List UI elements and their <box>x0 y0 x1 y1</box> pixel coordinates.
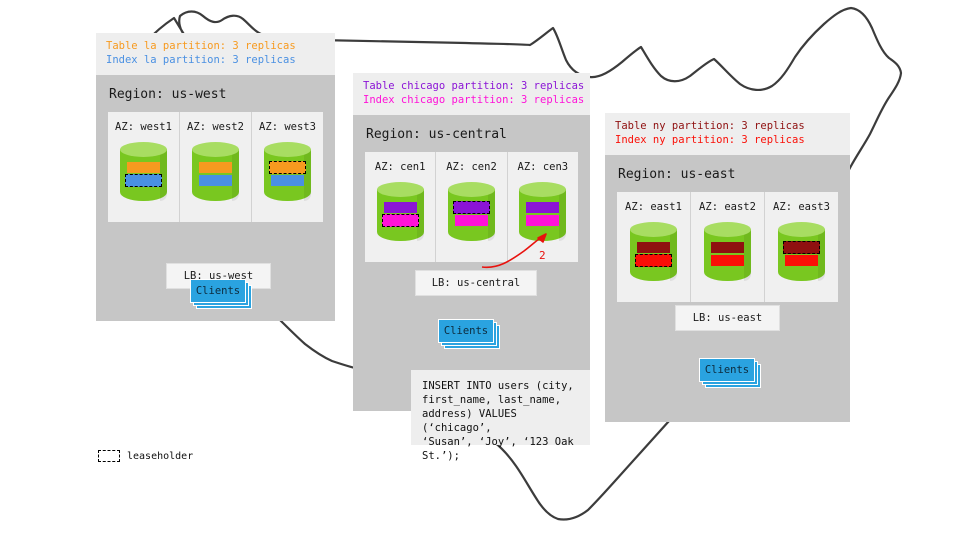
cylinder-shade <box>304 149 311 201</box>
az-label: AZ: east2 <box>699 201 756 213</box>
region-panel-us-west: Table la partition: 3 replicas Index la … <box>96 33 335 321</box>
partition-header-us-east: Table ny partition: 3 replicas Index ny … <box>605 113 850 155</box>
region-title: Region: us-west <box>96 75 335 112</box>
cylinder-shade <box>744 229 751 281</box>
index-partition-line: Index chicago partition: 3 replicas <box>363 94 580 108</box>
cylinder-top <box>120 142 167 157</box>
annotation-step-number: 2 <box>539 249 546 262</box>
az-label: AZ: east1 <box>625 201 682 213</box>
az-label: AZ: cen2 <box>446 161 497 173</box>
az-strip-us-east: AZ: east1 AZ: east2 <box>617 192 838 302</box>
replica-band-index-leaseholder <box>382 214 419 227</box>
az-cell-cen1[interactable]: AZ: cen1 <box>365 152 435 262</box>
az-cell-east1[interactable]: AZ: east1 <box>617 192 690 302</box>
database-cylinder[interactable] <box>192 142 239 208</box>
clients-label: Clients <box>438 319 494 343</box>
cylinder-top <box>778 222 825 237</box>
replica-band-table-leaseholder <box>453 201 490 214</box>
database-cylinder[interactable] <box>377 182 424 248</box>
annotation-arrow-2 <box>480 225 580 275</box>
replica-band-table <box>127 162 160 173</box>
clients-label: Clients <box>190 279 246 303</box>
region-title: Region: us-east <box>605 155 850 192</box>
az-label: AZ: west1 <box>115 121 172 133</box>
az-cell-east3[interactable]: AZ: east3 <box>764 192 838 302</box>
clients-button-us-east[interactable]: Clients <box>699 358 757 384</box>
replica-band-index-leaseholder <box>635 254 672 267</box>
az-label: AZ: cen3 <box>518 161 569 173</box>
replica-band-index <box>785 255 818 266</box>
replica-band-index <box>271 175 304 186</box>
cylinder-top <box>630 222 677 237</box>
az-label: AZ: cen1 <box>375 161 426 173</box>
cylinder-top <box>448 182 495 197</box>
dashed-rect-icon <box>98 450 120 462</box>
az-label: AZ: east3 <box>773 201 830 213</box>
table-partition-line: Table la partition: 3 replicas <box>106 40 325 54</box>
index-partition-line: Index ny partition: 3 replicas <box>615 134 840 148</box>
table-partition-line: Table ny partition: 3 replicas <box>615 120 840 134</box>
az-strip-us-west: AZ: west1 AZ: west2 <box>108 112 323 222</box>
cylinder-shade <box>818 229 825 281</box>
clients-button-us-west[interactable]: Clients <box>190 279 248 305</box>
database-cylinder[interactable] <box>264 142 311 208</box>
replica-band-table <box>711 242 744 253</box>
region-title: Region: us-central <box>353 115 590 152</box>
cylinder-shade <box>232 149 239 201</box>
replica-band-index-leaseholder <box>125 174 162 187</box>
region-panel-us-east: Table ny partition: 3 replicas Index ny … <box>605 113 850 422</box>
az-cell-west1[interactable]: AZ: west1 <box>108 112 179 222</box>
cylinder-top <box>264 142 311 157</box>
az-label: AZ: west3 <box>259 121 316 133</box>
az-cell-west3[interactable]: AZ: west3 <box>251 112 323 222</box>
partition-header-us-central: Table chicago partition: 3 replicas Inde… <box>353 73 590 115</box>
replica-band-table <box>637 242 670 253</box>
database-cylinder[interactable] <box>630 222 677 288</box>
replica-band-table <box>384 202 417 213</box>
load-balancer-us-east[interactable]: LB: us-east <box>675 305 780 331</box>
az-label: AZ: west2 <box>187 121 244 133</box>
table-partition-line: Table chicago partition: 3 replicas <box>363 80 580 94</box>
replica-band-index <box>199 175 232 186</box>
legend-leaseholder: leaseholder <box>98 450 193 462</box>
replica-band-index <box>711 255 744 266</box>
clients-button-us-central[interactable]: Clients <box>438 319 496 345</box>
replica-band-table-leaseholder <box>783 241 820 254</box>
index-partition-line: Index la partition: 3 replicas <box>106 54 325 68</box>
diagram-canvas: Table la partition: 3 replicas Index la … <box>0 0 960 540</box>
replica-band-table <box>199 162 232 173</box>
clients-label: Clients <box>699 358 755 382</box>
cylinder-top <box>192 142 239 157</box>
database-cylinder[interactable] <box>778 222 825 288</box>
replica-band-table <box>526 202 559 213</box>
database-cylinder[interactable] <box>120 142 167 208</box>
az-cell-east2[interactable]: AZ: east2 <box>690 192 764 302</box>
cylinder-top <box>519 182 566 197</box>
cylinder-top <box>377 182 424 197</box>
database-cylinder[interactable] <box>704 222 751 288</box>
legend-label: leaseholder <box>127 451 193 462</box>
sql-callout: INSERT INTO users (city, first_name, las… <box>411 370 590 445</box>
az-cell-west2[interactable]: AZ: west2 <box>179 112 251 222</box>
replica-band-table-leaseholder <box>269 161 306 174</box>
cylinder-top <box>704 222 751 237</box>
partition-header-us-west: Table la partition: 3 replicas Index la … <box>96 33 335 75</box>
